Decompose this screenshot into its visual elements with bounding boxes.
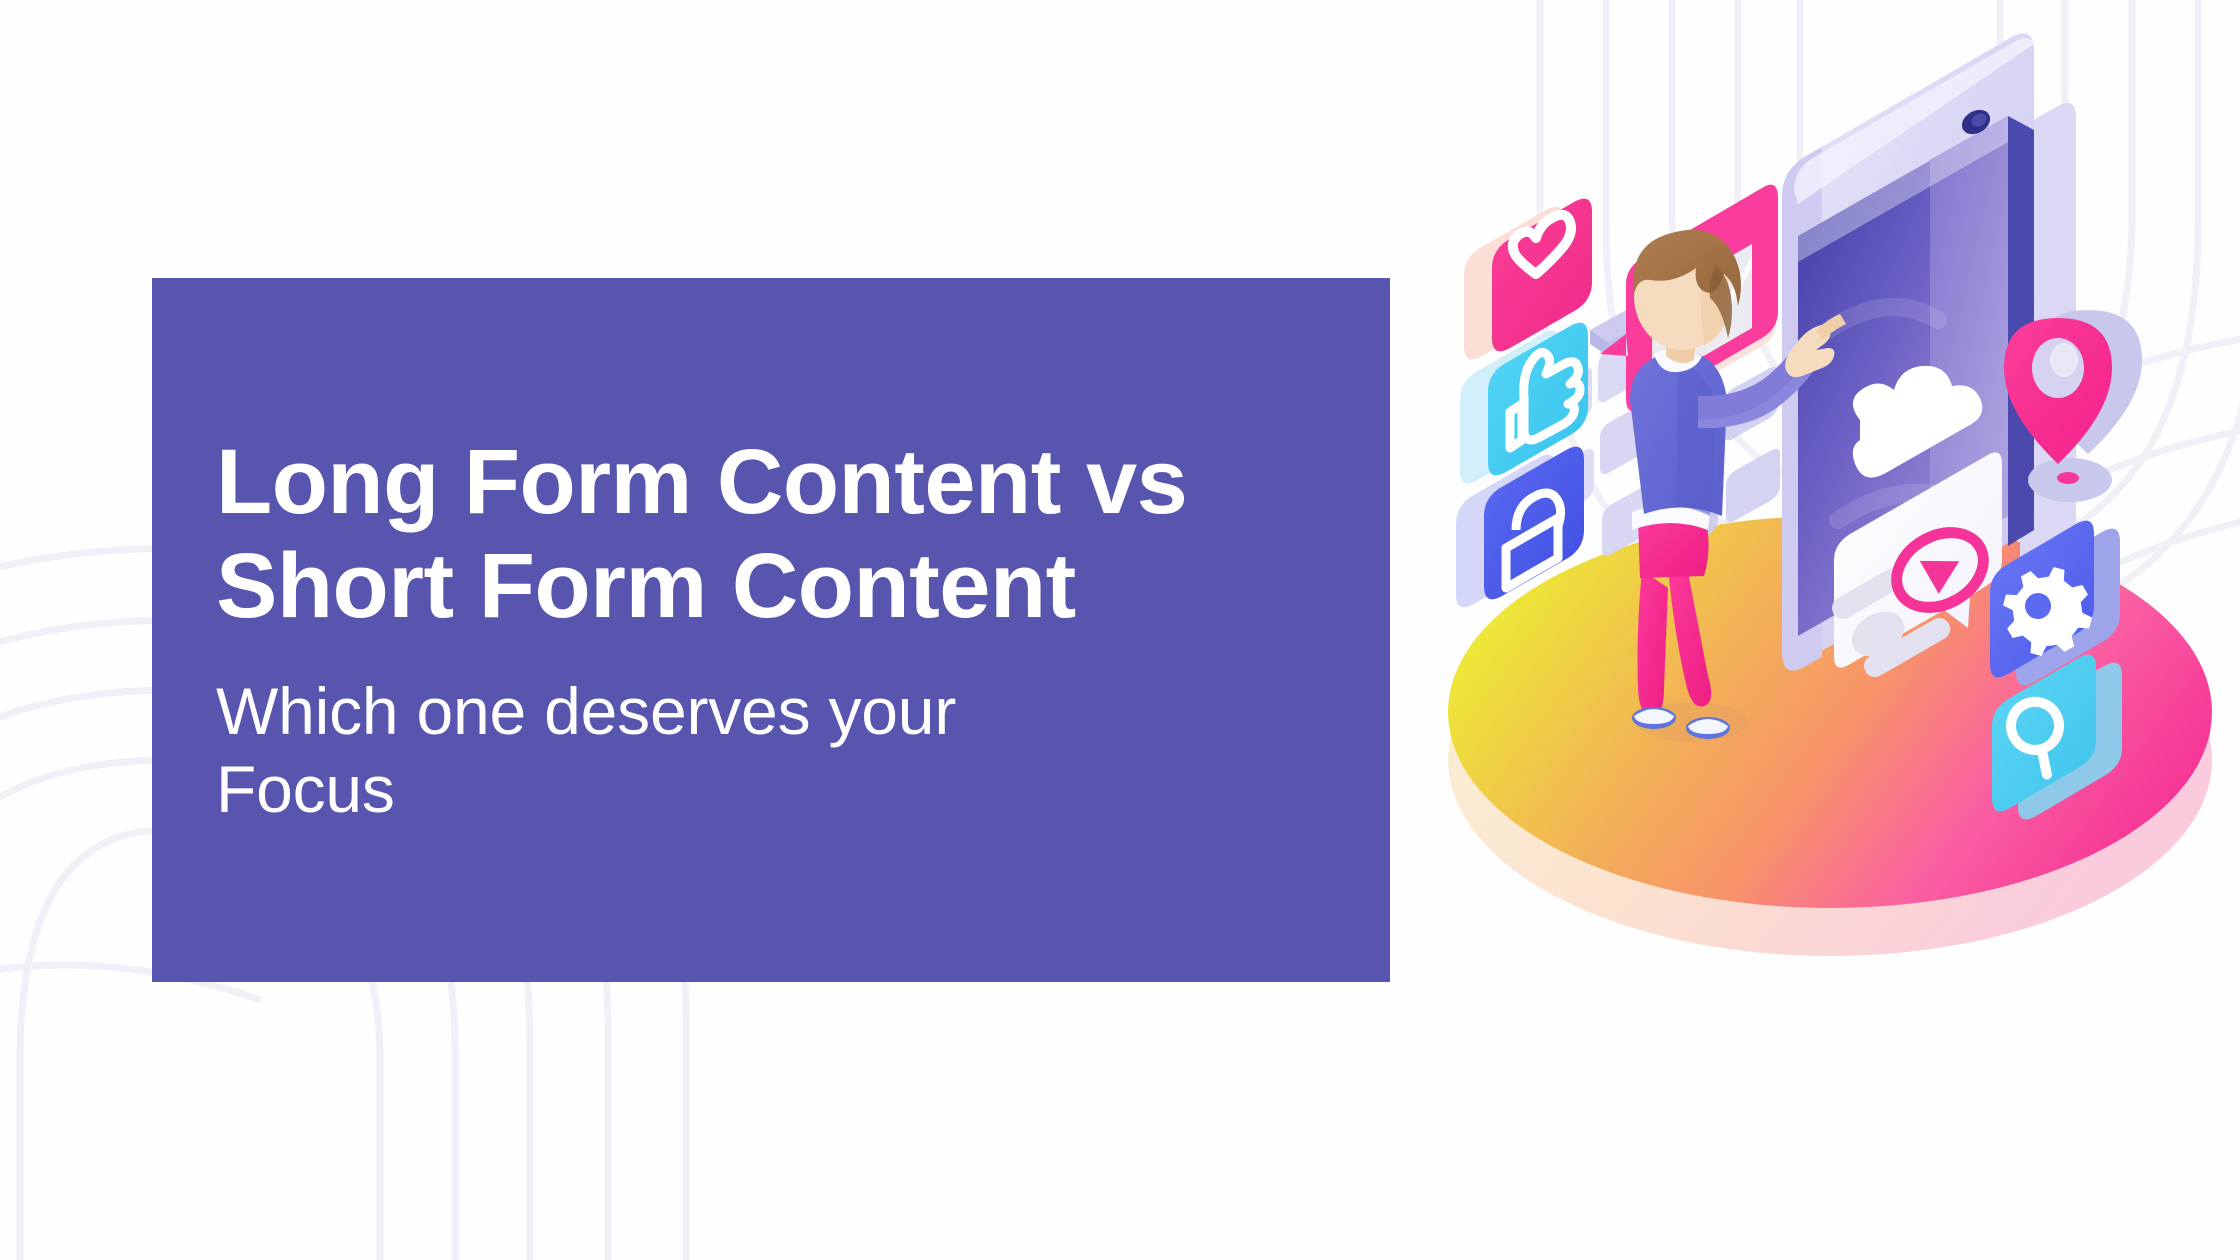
illustration-isometric-social-scene xyxy=(1430,0,2240,1120)
slide-canvas: Long Form Content vs Short Form Content … xyxy=(0,0,2240,1260)
page-title: Long Form Content vs Short Form Content xyxy=(216,431,1330,639)
illustration-svg xyxy=(1430,0,2240,1120)
page-subtitle: Which one deserves your Focus xyxy=(216,673,1330,829)
headline-panel: Long Form Content vs Short Form Content … xyxy=(152,278,1390,982)
